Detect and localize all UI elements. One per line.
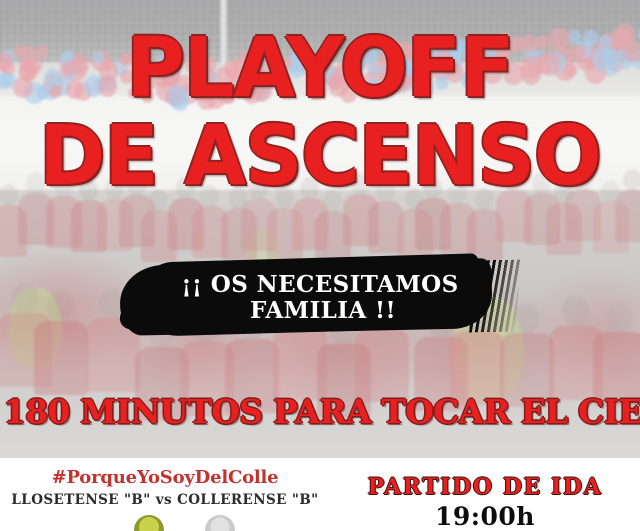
kickoff-time-text: 19:00h bbox=[330, 502, 640, 531]
club-crest-icon bbox=[205, 515, 235, 531]
tagline-180-minutos: 180 MINUTOS PARA TOCAR EL CIELO bbox=[3, 392, 637, 431]
playoff-poster: PLAYOFF DE ASCENSO ¡¡ OS NECESITAMOS FAM… bbox=[0, 0, 640, 531]
leg-label-text: PARTIDO DE IDA bbox=[330, 474, 640, 500]
footer-left-block: #PorqueYoSoyDelColle LLOSETENSE "B" vs C… bbox=[0, 458, 330, 531]
brush-banner-text: ¡¡ OS NECESITAMOS FAMILIA !! bbox=[120, 258, 520, 338]
banner-line-1: ¡¡ OS NECESITAMOS bbox=[181, 272, 458, 298]
footer-right-block: PARTIDO DE IDA 19:00h bbox=[330, 458, 640, 531]
hashtag-text: #PorqueYoSoyDelColle bbox=[0, 467, 330, 488]
banner-line-2: FAMILIA !! bbox=[244, 298, 396, 324]
brush-stroke-banner: ¡¡ OS NECESITAMOS FAMILIA !! bbox=[120, 258, 520, 338]
headline-playoff: PLAYOFF bbox=[10, 31, 631, 106]
footer-bar: #PorqueYoSoyDelColle LLOSETENSE "B" vs C… bbox=[0, 458, 640, 531]
matchup-text: LLOSETENSE "B" vs COLLERENSE "B" bbox=[0, 492, 330, 508]
club-crest-icon bbox=[134, 515, 164, 531]
headline-de-ascenso: DE ASCENSO bbox=[10, 119, 631, 194]
